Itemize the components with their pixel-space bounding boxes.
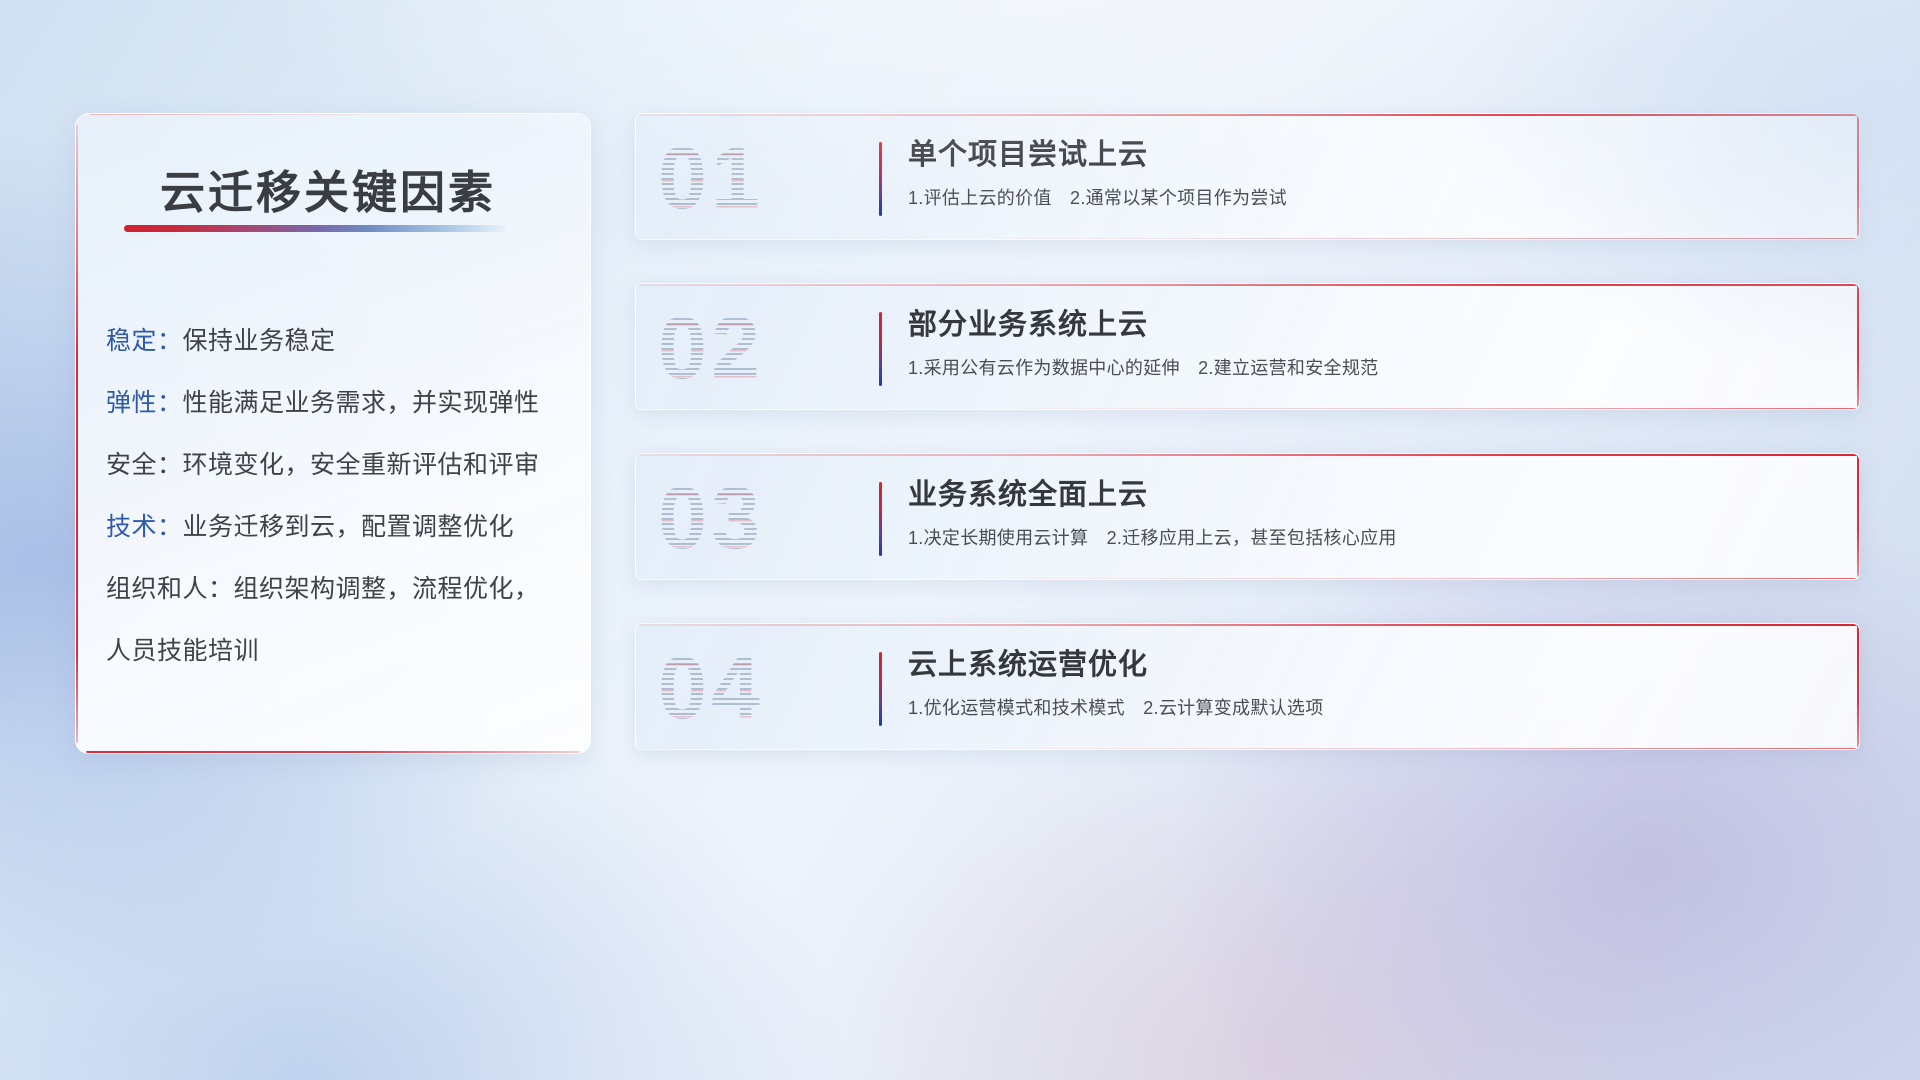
step-number-watermark: 01 xyxy=(658,128,858,228)
card-bottom-accent-line xyxy=(978,748,1859,749)
card-top-accent-line xyxy=(636,624,1859,626)
card-right-accent-line xyxy=(1857,454,1859,579)
step-divider-bar xyxy=(879,312,882,386)
card-right-accent-line xyxy=(1857,624,1859,749)
step-description: 1.评估上云的价值 2.通常以某个项目作为尝试 xyxy=(908,184,1835,212)
step-card[interactable]: 02 02 部分业务系统上云 1.采用公有云作为数据中心的延伸 2.建立运营和安… xyxy=(635,283,1860,410)
card-top-accent-line xyxy=(636,454,1859,456)
key-factor-list: 稳定：保持业务稳定 弹性：性能满足业务需求，并实现弹性 安全：环境变化，安全重新… xyxy=(106,310,572,682)
card-right-accent-line xyxy=(1857,284,1859,409)
card-bottom-accent-line xyxy=(978,238,1859,239)
step-divider-bar xyxy=(879,482,882,556)
step-description: 1.优化运营模式和技术模式 2.云计算变成默认选项 xyxy=(908,694,1835,722)
step-content: 单个项目尝试上云 1.评估上云的价值 2.通常以某个项目作为尝试 xyxy=(908,132,1835,212)
step-card[interactable]: 04 04 云上系统运营优化 1.优化运营模式和技术模式 2.云计算变成默认选项 xyxy=(635,623,1860,750)
card-top-accent-line xyxy=(636,284,1859,286)
step-title: 云上系统运营优化 xyxy=(908,642,1835,688)
list-item: 组织和人：组织架构调整，流程优化， xyxy=(106,558,572,620)
slide-canvas: 云迁移关键因素 稳定：保持业务稳定 弹性：性能满足业务需求，并实现弹性 安全：环… xyxy=(0,0,1920,1080)
step-description: 1.决定长期使用云计算 2.迁移应用上云，甚至包括核心应用 xyxy=(908,524,1835,552)
factor-value: 组织架构调整，流程优化， xyxy=(234,575,540,603)
panel-bottom-accent-line xyxy=(86,751,580,753)
list-item: 人员技能培训 xyxy=(106,620,572,682)
list-item: 安全：环境变化，安全重新评估和评审 xyxy=(106,434,572,496)
factor-label: 组织和人： xyxy=(106,575,234,603)
title-underline-rule xyxy=(124,225,506,232)
key-factors-panel: 云迁移关键因素 稳定：保持业务稳定 弹性：性能满足业务需求，并实现弹性 安全：环… xyxy=(75,113,591,754)
factor-value: 环境变化，安全重新评估和评审 xyxy=(183,451,540,479)
step-number-watermark: 03 xyxy=(658,468,858,568)
list-item: 弹性：性能满足业务需求，并实现弹性 xyxy=(106,372,572,434)
step-divider-bar xyxy=(879,652,882,726)
card-right-accent-line xyxy=(1857,114,1859,239)
step-card[interactable]: 03 03 业务系统全面上云 1.决定长期使用云计算 2.迁移应用上云，甚至包括… xyxy=(635,453,1860,580)
step-number-watermark: 04 xyxy=(658,638,858,738)
step-content: 业务系统全面上云 1.决定长期使用云计算 2.迁移应用上云，甚至包括核心应用 xyxy=(908,472,1835,552)
step-content: 部分业务系统上云 1.采用公有云作为数据中心的延伸 2.建立运营和安全规范 xyxy=(908,302,1835,382)
step-content: 云上系统运营优化 1.优化运营模式和技术模式 2.云计算变成默认选项 xyxy=(908,642,1835,722)
step-number-watermark: 02 xyxy=(658,298,858,398)
factor-value: 性能满足业务需求，并实现弹性 xyxy=(183,389,540,417)
factor-value: 保持业务稳定 xyxy=(183,327,336,355)
factor-label: 稳定： xyxy=(106,327,183,355)
step-title: 部分业务系统上云 xyxy=(908,302,1835,348)
step-title: 业务系统全面上云 xyxy=(908,472,1835,518)
factor-label: 弹性： xyxy=(106,389,183,417)
card-bottom-accent-line xyxy=(978,578,1859,579)
factor-value: 人员技能培训 xyxy=(106,637,259,665)
step-title: 单个项目尝试上云 xyxy=(908,132,1835,178)
migration-steps-list: 01 01 单个项目尝试上云 1.评估上云的价值 2.通常以某个项目作为尝试 0… xyxy=(635,113,1860,793)
step-card[interactable]: 01 01 单个项目尝试上云 1.评估上云的价值 2.通常以某个项目作为尝试 xyxy=(635,113,1860,240)
factor-label: 安全： xyxy=(106,451,183,479)
page-title: 云迁移关键因素 xyxy=(160,156,496,221)
card-top-accent-line xyxy=(636,114,1859,116)
step-divider-bar xyxy=(879,142,882,216)
list-item: 稳定：保持业务稳定 xyxy=(106,310,572,372)
step-description: 1.采用公有云作为数据中心的延伸 2.建立运营和安全规范 xyxy=(908,354,1835,382)
list-item: 技术：业务迁移到云，配置调整优化 xyxy=(106,496,572,558)
factor-label: 技术： xyxy=(106,513,183,541)
card-bottom-accent-line xyxy=(978,408,1859,409)
factor-value: 业务迁移到云，配置调整优化 xyxy=(183,513,515,541)
panel-left-accent-line xyxy=(76,124,78,743)
panel-top-accent-line xyxy=(90,114,550,115)
